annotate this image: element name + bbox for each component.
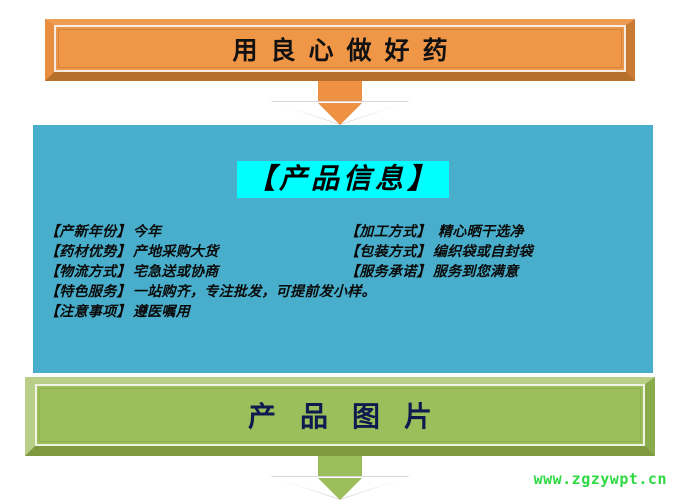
info-cell-left: 【产新年份】今年: [45, 221, 345, 241]
arrow-down-icon: [272, 81, 408, 125]
info-row: 【药材优势】产地采购大货 【包装方式】编织袋或自封袋: [45, 241, 647, 261]
info-key: 【药材优势】: [45, 244, 131, 260]
info-cell-left: 【物流方式】宅急送或协商: [45, 261, 345, 281]
product-image-banner: 产品图片: [25, 377, 655, 456]
info-row: 【物流方式】宅急送或协商 【服务承诺】服务到您满意: [45, 261, 647, 281]
info-cell-right: 【服务承诺】服务到您满意: [345, 261, 647, 281]
product-info-title: 【产品信息】: [237, 161, 449, 198]
slogan-text: 用良心做好药: [219, 31, 460, 67]
product-info-graphic: 用良心做好药 【产品信息】 【产新年份】今年 【加工方式】 精心晒干选净: [0, 0, 680, 500]
info-row: 【特色服务】一站购齐，专注批发，可提前发小样。: [45, 281, 647, 301]
info-value: 服务到您满意: [433, 264, 519, 280]
info-value: 今年: [133, 224, 162, 240]
info-key: 【注意事项】: [45, 304, 131, 320]
product-info-rows: 【产新年份】今年 【加工方式】 精心晒干选净 【药材优势】产地采购大货 【包装方…: [45, 221, 647, 321]
info-value: 编织袋或自封袋: [433, 244, 533, 260]
slogan-banner-inner: 用良心做好药: [54, 25, 626, 72]
info-value: 宅急送或协商: [133, 264, 219, 280]
arrow-down-icon: [272, 456, 408, 500]
slogan-banner: 用良心做好药: [45, 19, 635, 81]
product-info-title-wrap: 【产品信息】: [33, 161, 653, 198]
info-key: 【产新年份】: [45, 224, 131, 240]
info-key: 【加工方式】: [345, 224, 431, 240]
info-value: 一站购齐，专注批发，可提前发小样。: [133, 284, 376, 300]
info-key: 【物流方式】: [45, 264, 131, 280]
info-cell-right: 【加工方式】 精心晒干选净: [345, 221, 647, 241]
info-row: 【注意事项】遵医嘱用: [45, 301, 647, 321]
site-watermark: www.zgzywpt.cn: [534, 470, 667, 488]
info-key: 【包装方式】: [345, 244, 431, 260]
product-info-panel: 【产品信息】 【产新年份】今年 【加工方式】 精心晒干选净 【药材优势】产地采购…: [33, 125, 653, 373]
info-key: 【服务承诺】: [345, 264, 431, 280]
info-key: 【特色服务】: [45, 284, 131, 300]
info-value: 产地采购大货: [133, 244, 219, 260]
info-cell-right: 【包装方式】编织袋或自封袋: [345, 241, 647, 261]
info-row: 【产新年份】今年 【加工方式】 精心晒干选净: [45, 221, 647, 241]
arrow-head-fill: [318, 478, 362, 500]
info-value: 遵医嘱用: [133, 304, 190, 320]
info-cell-wide: 【注意事项】遵医嘱用: [45, 301, 647, 321]
info-cell-wide: 【特色服务】一站购齐，专注批发，可提前发小样。: [45, 281, 647, 301]
product-image-banner-inner: 产品图片: [35, 384, 645, 446]
product-image-banner-text: 产品图片: [224, 395, 456, 435]
arrow-head-fill: [318, 103, 362, 125]
info-value: 精心晒干选净: [438, 224, 524, 240]
info-cell-left: 【药材优势】产地采购大货: [45, 241, 345, 261]
